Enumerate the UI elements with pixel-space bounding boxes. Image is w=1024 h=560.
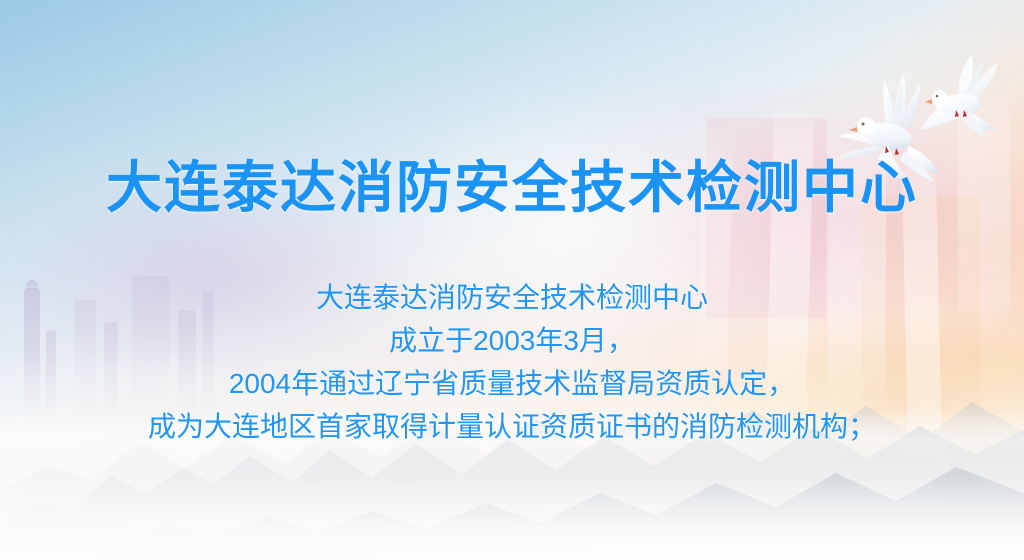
description-line: 2004年通过辽宁省质量技术监督局资质认定， [0, 362, 1024, 405]
description-line: 成为大连地区首家取得计量认证资质证书的消防检测机构； [0, 405, 1024, 448]
description-line: 大连泰达消防安全技术检测中心 [0, 276, 1024, 319]
dove-icon [912, 52, 1016, 144]
promotional-banner: 大连泰达消防安全技术检测中心 大连泰达消防安全技术检测中心 成立于2003年3月… [0, 0, 1024, 560]
description-line: 成立于2003年3月， [0, 319, 1024, 362]
page-title: 大连泰达消防安全技术检测中心 [0, 160, 1024, 216]
description-block: 大连泰达消防安全技术检测中心 成立于2003年3月， 2004年通过辽宁省质量技… [0, 276, 1024, 448]
mountain-range-near [0, 445, 1024, 560]
